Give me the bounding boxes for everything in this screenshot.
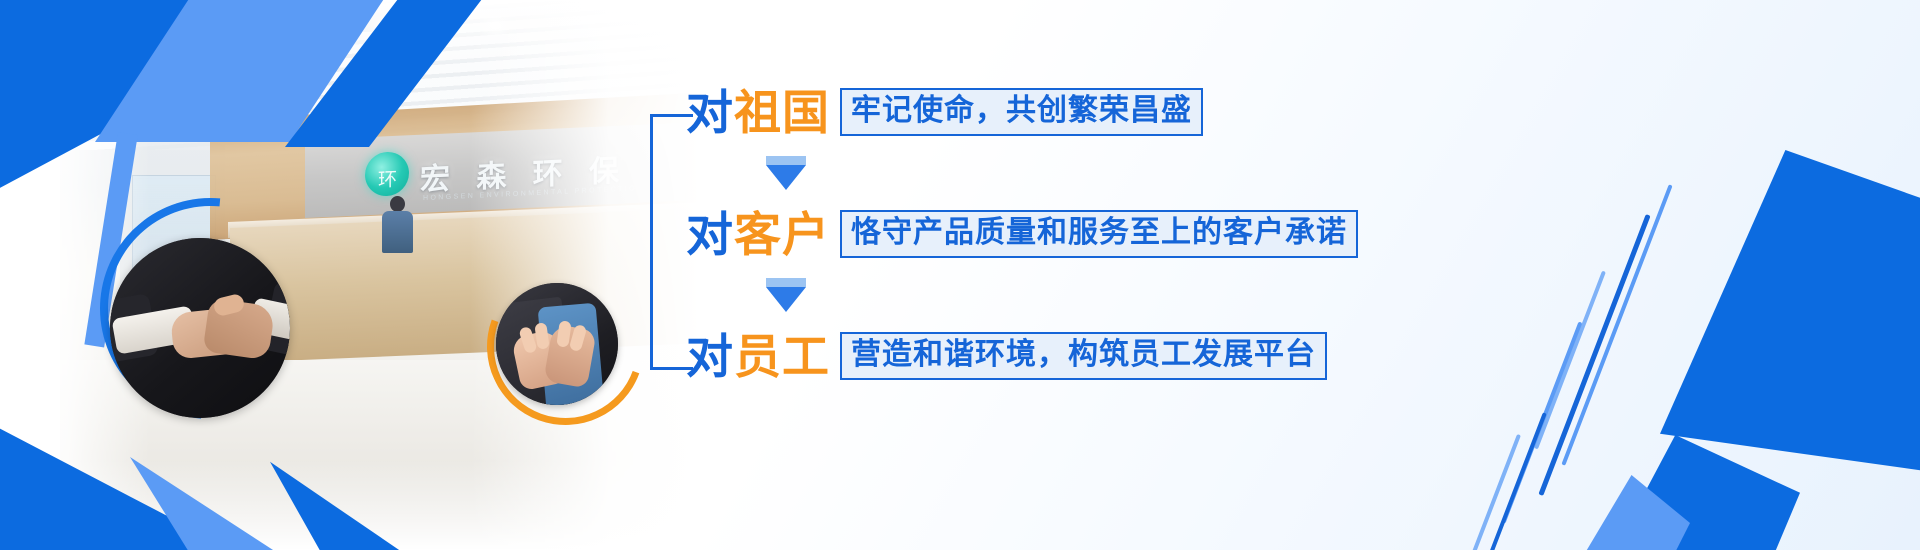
receptionist-head: [390, 196, 405, 212]
row-caption-country: 牢记使命，共创繁荣昌盛: [840, 88, 1203, 136]
receptionist-body: [382, 211, 413, 253]
philosophy-row-country: 对祖国 牢记使命，共创繁荣昌盛: [686, 88, 1203, 136]
handshake-photo: [110, 238, 290, 418]
arrow-triangle: [766, 287, 806, 312]
lead-prefix: 对: [686, 208, 734, 261]
flow-arrow-2: [766, 278, 806, 312]
logo-glyph: 环: [378, 165, 397, 193]
lead-keyword: 客户: [734, 208, 830, 261]
philosophy-row-employee: 对员工 营造和谐环境，构筑员工发展平台: [686, 332, 1327, 380]
decor-shape-right-large: [1660, 150, 1920, 480]
arrow-cap: [766, 156, 806, 165]
company-philosophy-banner: 环 宏 森 环 保 HONGSEN ENVIRONMENTAL PROTECTI…: [0, 0, 1920, 550]
lead-keyword: 员工: [734, 330, 830, 383]
arrow-triangle: [766, 165, 806, 190]
lead-prefix: 对: [686, 86, 734, 139]
row-caption-employee: 营造和谐环境，构筑员工发展平台: [840, 332, 1327, 380]
row-caption-customer: 恪守产品质量和服务至上的客户承诺: [840, 210, 1358, 258]
row-lead-customer: 对客户: [686, 211, 830, 258]
arrow-cap: [766, 278, 806, 287]
row-lead-employee: 对员工: [686, 333, 830, 380]
row-lead-country: 对祖国: [686, 89, 830, 136]
philosophy-list: 对祖国 牢记使命，共创繁荣昌盛 对客户 恪守产品质量和服务至上的客户承诺 对员工…: [650, 70, 1570, 400]
receptionist: [380, 196, 414, 252]
philosophy-row-customer: 对客户 恪守产品质量和服务至上的客户承诺: [686, 210, 1358, 258]
flow-arrow-1: [766, 156, 806, 190]
applause-photo: [496, 283, 618, 405]
lead-keyword: 祖国: [734, 86, 830, 139]
lead-prefix: 对: [686, 330, 734, 383]
